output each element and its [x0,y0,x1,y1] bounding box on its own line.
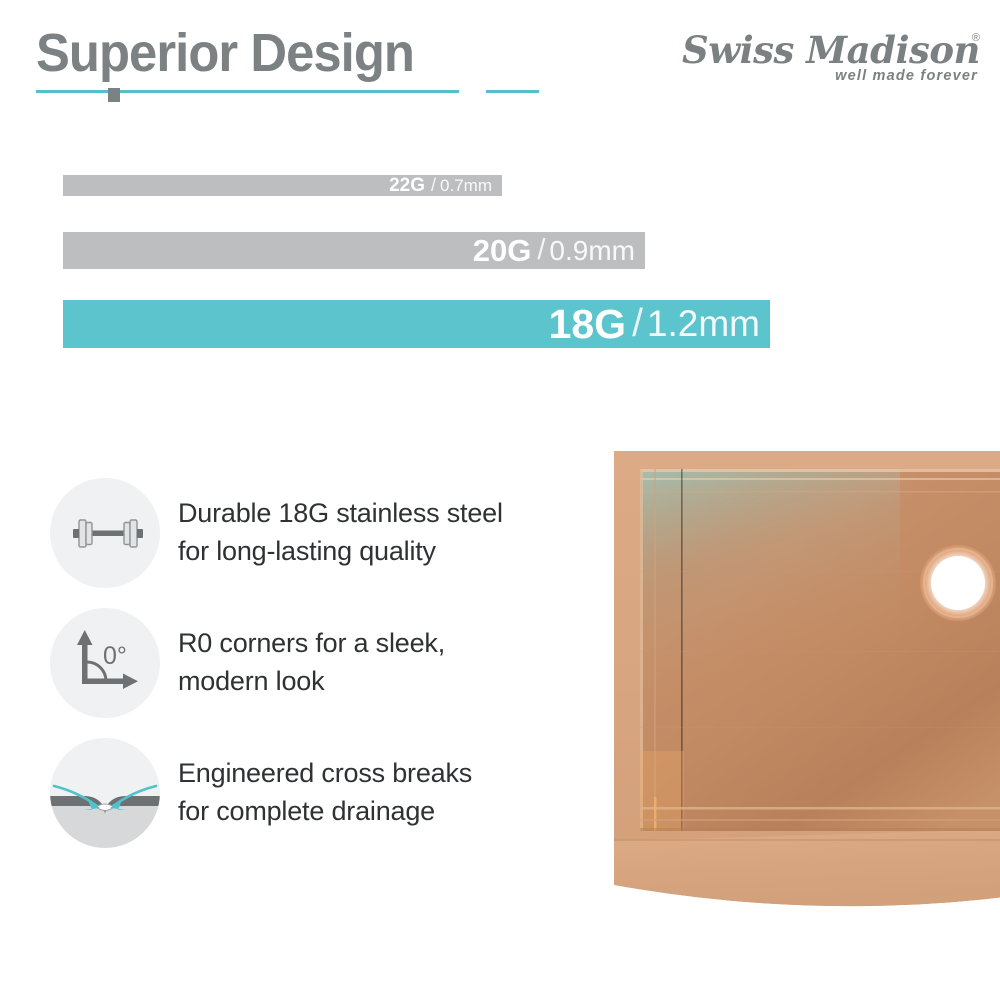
brand-logo: Swiss Madison ® well made forever [682,28,982,90]
gauge-bar-20g: 20G / 0.9mm [63,232,645,269]
feature-line-1: R0 corners for a sleek, [178,624,445,662]
gauge-bar-20g-separator: / [537,234,545,267]
infographic-page: Superior Design Swiss Madison ® well mad… [0,0,1000,1000]
gauge-bar-18g: 18G / 1.2mm [63,300,770,348]
feature-text-drainage: Engineered cross breaks for complete dra… [178,754,472,830]
gauge-bar-20g-label: 20G [473,233,532,269]
gauge-bar-22g-label: 22G [389,175,425,197]
gauge-comparison-chart: 22G / 0.7mm 20G / 0.9mm 18G / 1.2mm [0,150,1000,380]
svg-text:0°: 0° [103,642,127,670]
feature-line-2: for complete drainage [178,792,472,830]
feature-text-durability: Durable 18G stainless steel for long-las… [178,494,503,570]
feature-line-2: for long-lasting quality [178,532,503,570]
feature-line-2: modern look [178,662,445,700]
right-angle-icon: 0° [50,608,160,718]
gauge-bar-22g: 22G / 0.7mm [63,175,502,196]
gauge-bar-22g-thickness: 0.7mm [440,176,492,196]
gauge-bar-22g-separator: / [431,175,436,196]
cross-break-drainage-icon [50,738,160,848]
gauge-bar-18g-thickness: 1.2mm [647,303,760,345]
gauge-bar-18g-separator: / [632,302,643,346]
feature-line-1: Engineered cross breaks [178,754,472,792]
page-title-wrap: Superior Design [36,22,438,84]
dumbbell-icon [50,478,160,588]
feature-line-1: Durable 18G stainless steel [178,494,503,532]
feature-item-drainage: Engineered cross breaks for complete dra… [50,738,472,848]
brand-tagline: well made forever [835,68,978,84]
brand-name: Swiss Madison [682,28,972,72]
page-title: Superior Design [36,22,414,84]
gauge-bar-20g-thickness: 0.9mm [549,235,635,267]
title-underline-descender-p [108,88,120,102]
feature-item-durability: Durable 18G stainless steel for long-las… [50,478,503,588]
registered-trademark-icon: ® [972,32,980,44]
header: Superior Design Swiss Madison ® well mad… [0,0,1000,110]
title-underline-descender-g [459,87,486,103]
feature-text-corners: R0 corners for a sleek, modern look [178,624,445,700]
copper-farmhouse-sink-image [614,451,1000,911]
gauge-bar-18g-label: 18G [549,301,627,348]
feature-item-corners: 0° R0 corners for a sleek, modern look [50,608,445,718]
